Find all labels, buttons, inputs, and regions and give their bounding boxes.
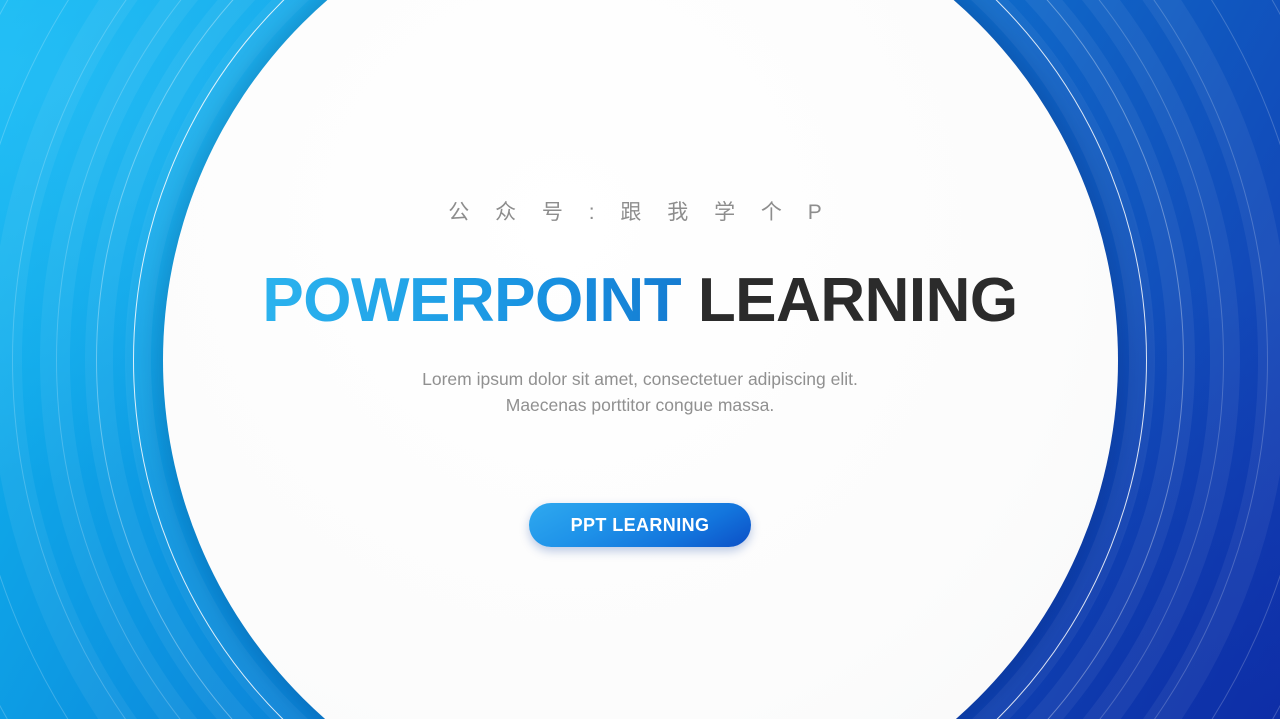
eyebrow-text: 公 众 号 : 跟 我 学 个 P [0,196,1280,226]
ppt-learning-button[interactable]: PPT LEARNING [529,503,751,547]
subtitle-block: Lorem ipsum dolor sit amet, consectetuer… [0,366,1280,418]
slide-content: 公 众 号 : 跟 我 学 个 P POWERPOINT LEARNING Lo… [0,0,1280,719]
subtitle-line-1: Lorem ipsum dolor sit amet, consectetuer… [0,366,1280,392]
page-title: POWERPOINT LEARNING [0,265,1280,337]
title-secondary: LEARNING [698,266,1018,335]
subtitle-line-2: Maecenas porttitor congue massa. [0,392,1280,418]
title-primary: POWERPOINT [262,266,697,335]
title-slide: 公 众 号 : 跟 我 学 个 P POWERPOINT LEARNING Lo… [0,0,1280,719]
